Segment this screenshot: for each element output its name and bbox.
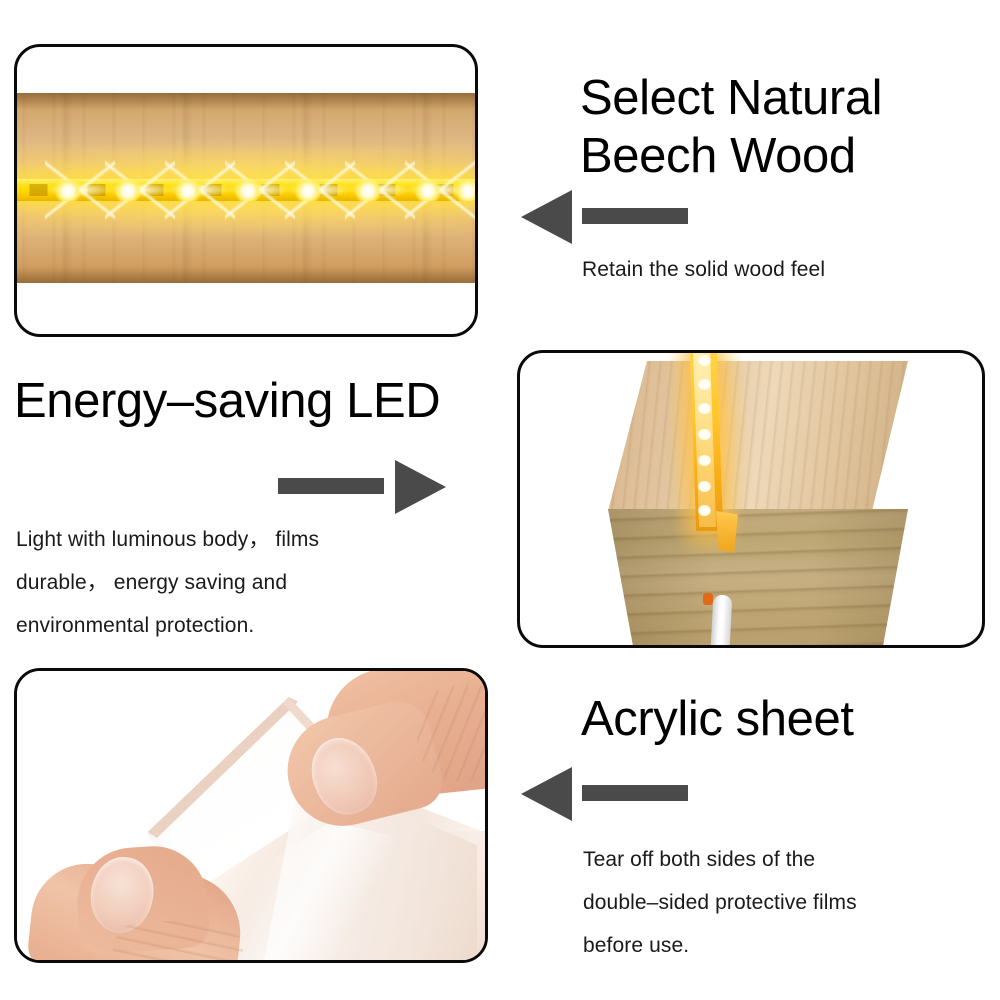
cable-connector bbox=[703, 593, 713, 605]
slot-led-point bbox=[698, 481, 711, 492]
slot-led-point bbox=[698, 403, 711, 414]
heading-beech-wood: Select Natural Beech Wood bbox=[580, 69, 980, 185]
arrow-left-beech-wood bbox=[521, 188, 691, 246]
lower-hand-creases bbox=[113, 921, 243, 963]
led-point bbox=[175, 179, 201, 201]
arrow-shaft bbox=[582, 785, 688, 801]
slot-led-point bbox=[698, 455, 711, 466]
board-bottom-shadow bbox=[14, 267, 478, 283]
arrow-shaft bbox=[582, 208, 688, 224]
led-point bbox=[115, 179, 141, 201]
block-face-shading bbox=[608, 509, 908, 648]
power-cable bbox=[709, 595, 733, 648]
led-point bbox=[295, 179, 321, 201]
slot-led-point bbox=[698, 355, 711, 366]
arrow-head-left-icon bbox=[521, 767, 572, 821]
photo-card-beech-block bbox=[517, 350, 985, 648]
block-top-face bbox=[608, 361, 908, 511]
caption-beech-wood: Retain the solid wood feel bbox=[582, 256, 982, 284]
slot-led-point bbox=[698, 429, 711, 440]
arrow-head-right-icon bbox=[395, 460, 446, 514]
photo-card-acrylic-film bbox=[14, 668, 488, 963]
slot-led-point bbox=[698, 505, 711, 516]
slot-led-point bbox=[698, 379, 711, 390]
arrow-shaft bbox=[278, 478, 384, 494]
caption-acrylic-sheet: Tear off both sides of the double–sided … bbox=[583, 838, 983, 967]
led-point bbox=[415, 179, 441, 201]
photo-card-beech-board bbox=[14, 44, 478, 337]
board-top-shadow bbox=[14, 93, 478, 109]
arrow-head-left-icon bbox=[521, 190, 572, 244]
beech-block bbox=[520, 353, 982, 645]
caption-energy-saving-led: Light with luminous body， films durable，… bbox=[16, 518, 446, 647]
heading-energy-saving-led: Energy–saving LED bbox=[14, 372, 494, 430]
arrow-right-energy-saving-led bbox=[276, 458, 446, 516]
led-point bbox=[235, 179, 261, 201]
arrow-left-acrylic-sheet bbox=[521, 765, 691, 823]
heading-acrylic-sheet: Acrylic sheet bbox=[581, 690, 981, 748]
infographic-canvas: Select Natural Beech Wood Retain the sol… bbox=[0, 0, 1000, 1000]
led-point bbox=[55, 179, 81, 201]
led-point bbox=[455, 179, 478, 201]
led-point bbox=[355, 179, 381, 201]
